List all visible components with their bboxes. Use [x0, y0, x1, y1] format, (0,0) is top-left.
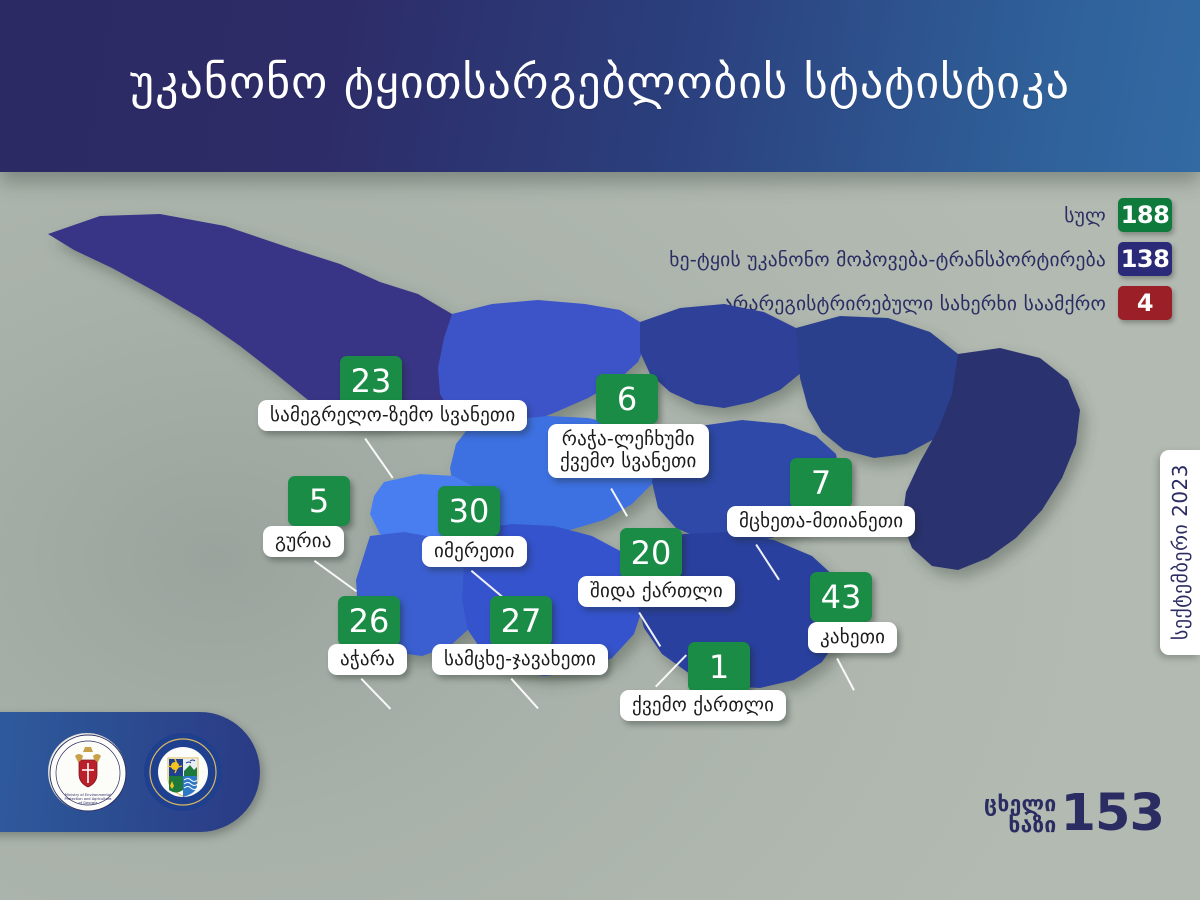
hotline-line-2: ხაზი — [984, 815, 1057, 836]
marker-label-mtskheta-mtianeti[interactable]: მცხეთა-მთიანეთი — [727, 506, 915, 537]
hotline-number: 153 — [1061, 791, 1164, 838]
marker-kakheti[interactable]: 43 — [810, 572, 872, 622]
marker-guria[interactable]: 5 — [288, 476, 350, 526]
marker-value-racha: 6 — [596, 374, 658, 424]
marker-value-adjara: 26 — [338, 596, 400, 646]
region-abkhazia — [48, 214, 490, 424]
marker-value-imereti: 30 — [438, 486, 500, 536]
hotline-words: ცხელი ხაზი — [984, 794, 1057, 836]
marker-mtskheta-mtianeti[interactable]: 7 — [790, 458, 852, 508]
environmental-supervision-emblem-icon — [144, 733, 222, 811]
marker-name-mtskheta: მცხეთა-მთიანეთი — [727, 506, 915, 537]
marker-value-guria: 5 — [288, 476, 350, 526]
marker-name-samtskhe: სამცხე-ჯავახეთი — [432, 644, 608, 675]
marker-name-racha: რაჭა-ლეჩხუმი ქვემო სვანეთი — [548, 424, 709, 478]
marker-label-samegrelo-zemo-svaneti[interactable]: სამეგრელო-ზემო სვანეთი — [258, 400, 527, 431]
marker-name-racha-line1: რაჭა-ლეჩხუმი — [560, 428, 697, 450]
marker-label-racha-lechkhumi[interactable]: რაჭა-ლეჩხუმი ქვემო სვანეთი — [548, 424, 709, 478]
marker-value-mtskheta: 7 — [790, 458, 852, 508]
marker-samtskhe-javakheti[interactable]: 27 — [490, 596, 552, 646]
marker-label-shida-kartli[interactable]: შიდა ქართლი — [578, 576, 735, 607]
hotline-line-1: ცხელი — [984, 794, 1057, 815]
georgia-map: 23 სამეგრელო-ზემო სვანეთი 6 რაჭა-ლეჩხუმი… — [0, 176, 1200, 736]
marker-kvemo-kartli[interactable]: 1 — [688, 642, 750, 692]
marker-label-samtskhe-javakheti[interactable]: სამცხე-ჯავახეთი — [432, 644, 608, 675]
marker-racha-lechkhumi[interactable]: 6 — [596, 374, 658, 424]
marker-name-guria: გურია — [263, 526, 344, 557]
marker-value-kakheti: 43 — [810, 572, 872, 622]
marker-adjara[interactable]: 26 — [338, 596, 400, 646]
marker-label-imereti[interactable]: იმერეთი — [422, 536, 527, 567]
hotline: ცხელი ხაზი 153 — [984, 791, 1164, 838]
marker-value-kvemo: 1 — [688, 642, 750, 692]
region-racha-lechkhumi — [640, 304, 810, 408]
marker-label-adjara[interactable]: აჭარა — [328, 644, 407, 675]
marker-value-shida: 20 — [620, 528, 682, 578]
marker-label-guria[interactable]: გურია — [263, 526, 344, 557]
marker-shida-kartli[interactable]: 20 — [620, 528, 682, 578]
marker-value-samtskhe: 27 — [490, 596, 552, 646]
marker-label-kakheti[interactable]: კახეთი — [808, 622, 897, 653]
date-tab: სექტემბერი 2023 — [1160, 450, 1200, 655]
marker-name-racha-line2: ქვემო სვანეთი — [560, 450, 697, 472]
marker-name-kvemo: ქვემო ქართლი — [620, 690, 786, 721]
page-header: უკანონო ტყითსარგებლობის სტატისტიკა — [0, 0, 1200, 172]
date-tab-label: სექტემბერი 2023 — [1168, 464, 1192, 640]
marker-samegrelo-zemo-svaneti[interactable]: 23 — [340, 356, 402, 406]
logo-panel: Ministry of Environmental Protection and… — [0, 712, 260, 832]
marker-label-kvemo-kartli[interactable]: ქვემო ქართლი — [620, 690, 786, 721]
marker-imereti[interactable]: 30 — [438, 486, 500, 536]
page-title: უკანონო ტყითსარგებლობის სტატისტიკა — [130, 55, 1070, 109]
ministry-emblem-icon: Ministry of Environmental Protection and… — [48, 733, 126, 811]
marker-name-kakheti: კახეთი — [808, 622, 897, 653]
svg-text:of Georgia: of Georgia — [79, 801, 98, 805]
marker-name-shida: შიდა ქართლი — [578, 576, 735, 607]
marker-name-adjara: აჭარა — [328, 644, 407, 675]
marker-name-imereti: იმერეთი — [422, 536, 527, 567]
marker-value-samegrelo: 23 — [340, 356, 402, 406]
marker-name-samegrelo: სამეგრელო-ზემო სვანეთი — [258, 400, 527, 431]
